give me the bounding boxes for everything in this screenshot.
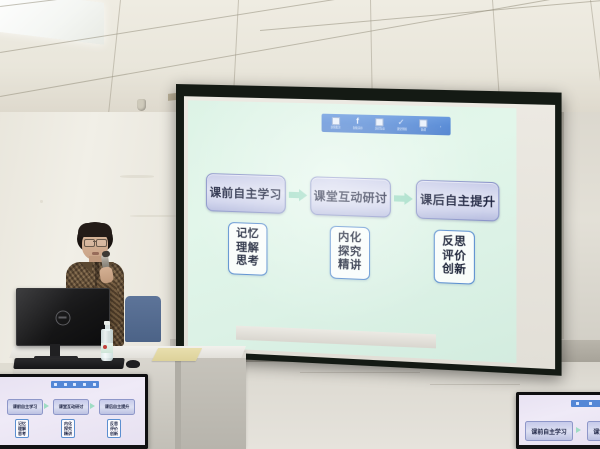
- document-icon: [331, 117, 339, 125]
- detail-2-2: 创新: [442, 263, 466, 278]
- toolbar-item-1[interactable]: f 白板演示: [353, 117, 363, 129]
- check-icon: ✓: [398, 119, 406, 127]
- dell-monitor: [16, 288, 110, 346]
- mini-flow-box-2: 课后自主提升: [99, 399, 135, 415]
- confidence-monitor-left: 课前自主学习 课堂互动研讨 课后自主提升 记忆 理解 思考 内化 探究 精讲 反…: [0, 374, 148, 449]
- facebook-f-icon: f: [353, 118, 361, 126]
- mini-detail-box-1: 内化 探究 精讲: [61, 419, 75, 438]
- mini-flow-arrow-icon: [90, 403, 95, 409]
- podium-side-panel: [180, 358, 246, 449]
- wall-scuff: [130, 215, 176, 217]
- mini-flow-arrow-icon: [576, 427, 581, 433]
- toolbar-label-0: 屏幕批注: [331, 126, 341, 129]
- toolbar-item-4[interactable]: 备课: [419, 119, 427, 132]
- detail-2-0: 反思: [442, 235, 466, 250]
- bottle-label: [101, 343, 113, 353]
- slide-annotation-toolbar[interactable]: 屏幕批注 f 白板演示 多屏互动 ✓ 课堂测验: [322, 114, 451, 136]
- mini-detail-0-2: 思考: [18, 431, 26, 436]
- confidence-monitor-left-screen: 课前自主学习 课堂互动研讨 课后自主提升 记忆 理解 思考 内化 探究 精讲 反…: [0, 377, 145, 449]
- mini-flow-title-2: 课后自主提升: [105, 404, 130, 410]
- mini-flow-box-0: 课前自主学习: [7, 399, 43, 415]
- mini-flow-arrow-icon: [44, 403, 49, 409]
- presenter-fringe: [78, 223, 112, 237]
- mini-flow-box-0: 课前自主学习: [525, 421, 573, 441]
- toolbar-label-3: 课堂测验: [397, 128, 407, 131]
- dell-logo-icon: [56, 311, 71, 326]
- detail-0-1: 理解: [236, 241, 259, 256]
- mini-detail-2-2: 创新: [110, 431, 118, 436]
- wall-scuff: [40, 200, 43, 203]
- flow-step-box-2: 课后自主提升: [416, 180, 499, 222]
- toolbar-label-2: 多屏互动: [375, 127, 385, 130]
- detail-2-1: 评价: [442, 249, 466, 264]
- flow-arrow-icon: [394, 192, 413, 205]
- flow-step-title-0: 课前自主学习: [210, 184, 282, 203]
- slide-detail-row: 记忆 理解 思考 内化 探究 精讲 反思 评价 创新: [206, 221, 499, 232]
- book-icon: [419, 119, 427, 127]
- glasses-bridge: [93, 241, 96, 242]
- toolbar-item-0[interactable]: 屏幕批注: [331, 117, 341, 129]
- mini-flow-box-1: 课堂互动研讨: [587, 421, 600, 441]
- yellow-paper: [152, 348, 202, 361]
- detail-box-2: 反思 评价 创新: [434, 229, 475, 284]
- mini-detail-1-2: 精讲: [64, 431, 72, 436]
- classroom-photo-scene: 屏幕批注 f 白板演示 多屏互动 ✓ 课堂测验: [0, 0, 600, 449]
- mini-detail-box-0: 记忆 理解 思考: [15, 419, 29, 438]
- bottle-cap: [104, 321, 110, 325]
- mini-detail-box-2: 反思 评价 创新: [107, 419, 121, 438]
- toolbar-item-2[interactable]: 多屏互动: [375, 118, 385, 131]
- flow-step-box-0: 课前自主学习: [206, 173, 285, 214]
- toolbar-label-4: 备课: [421, 128, 426, 131]
- mini-flow-title-1: 课堂互动研讨: [593, 427, 600, 436]
- mouse[interactable]: [126, 360, 140, 368]
- flow-step-title-1: 课堂互动研讨: [314, 188, 388, 207]
- flow-step-title-2: 课后自主提升: [420, 191, 495, 210]
- mini-flow-box-1: 课堂互动研讨: [53, 399, 89, 415]
- wall-scuff: [120, 175, 154, 178]
- detail-1-1: 探究: [338, 245, 362, 260]
- mini-flow-title-1: 课堂互动研讨: [59, 404, 84, 410]
- confidence-monitor-right-screen: 课前自主学习 课堂互动研讨 记忆: [519, 395, 600, 449]
- detail-1-0: 内化: [338, 231, 362, 246]
- flow-arrow-icon: [288, 189, 306, 202]
- screen-icon: [376, 118, 384, 126]
- water-bottle: [101, 321, 113, 361]
- mini-flow-title-0: 课前自主学习: [13, 404, 38, 410]
- confidence-monitor-right: 课前自主学习 课堂互动研讨 记忆: [516, 392, 600, 449]
- glasses-icon: [96, 239, 107, 247]
- toolbar-label-1: 白板演示: [353, 127, 363, 130]
- presenter-mouth: [92, 252, 99, 255]
- detail-box-1: 内化 探究 精讲: [330, 226, 370, 280]
- mini-toolbar: [571, 400, 600, 407]
- detail-1-2: 精讲: [338, 259, 362, 274]
- flow-step-box-1: 课堂互动研讨: [310, 176, 391, 217]
- presenter-hand: [99, 266, 114, 284]
- toolbar-item-3[interactable]: ✓ 课堂测验: [397, 119, 407, 132]
- detail-box-0: 记忆 理解 思考: [228, 222, 267, 275]
- slide-flow-row: 课前自主学习 课堂互动研讨 课后自主提升: [206, 173, 499, 222]
- detail-0-2: 思考: [236, 254, 259, 269]
- podium-edge: [175, 352, 181, 449]
- mini-toolbar: [51, 381, 99, 388]
- microphone-head: [101, 251, 110, 258]
- toolbar-more-icon[interactable]: ›: [440, 123, 441, 128]
- ceiling-sensor-icon: [137, 99, 146, 111]
- detail-0-0: 记忆: [236, 227, 259, 241]
- mini-flow-title-0: 课前自主学习: [531, 427, 566, 436]
- projected-slide: 屏幕批注 f 白板演示 多屏互动 ✓ 课堂测验: [188, 100, 516, 363]
